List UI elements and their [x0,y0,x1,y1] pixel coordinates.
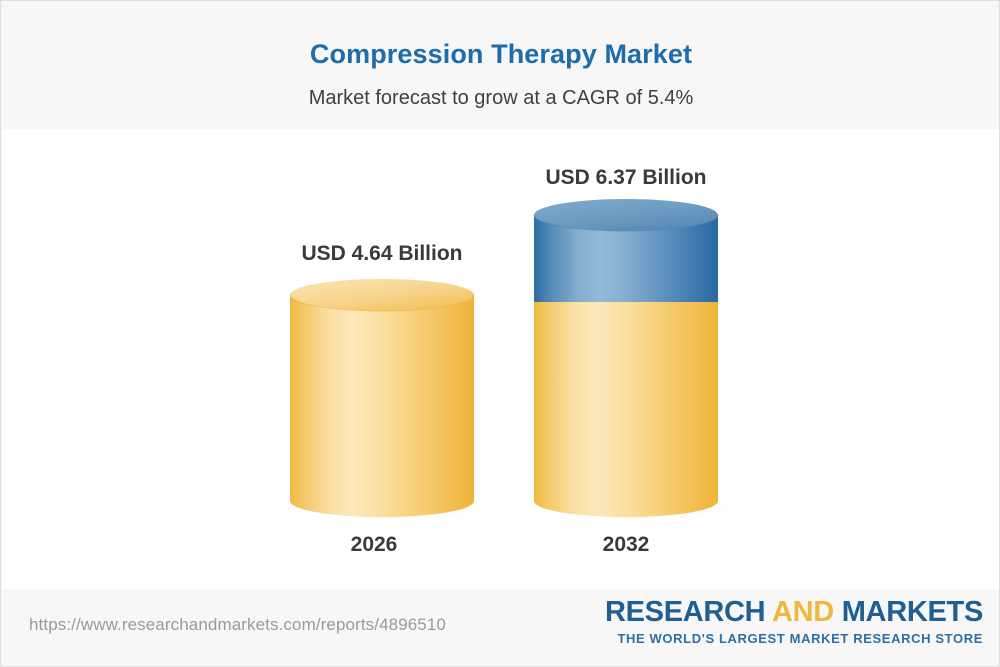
logo-wordmark: RESEARCH AND MARKETS [605,597,983,627]
bar-value-label-2026: USD 4.64 Billion [222,242,542,266]
report-url[interactable]: https://www.researchandmarkets.com/repor… [29,615,446,635]
chart-image: Compression Therapy Market Market foreca… [0,0,1000,667]
cylinder-bar-2032[interactable] [534,202,734,526]
category-label-2032: 2032 [466,533,786,557]
bar-chart-plot: USD 4.64 Billion [1,1,1000,667]
logo-word-research: RESEARCH [605,596,765,628]
bar-value-label-2032: USD 6.37 Billion [466,166,786,190]
footer: https://www.researchandmarkets.com/repor… [1,589,1000,666]
logo-tagline: THE WORLD'S LARGEST MARKET RESEARCH STOR… [605,627,983,647]
logo-word-markets: MARKETS [842,596,983,628]
cylinder-bar-2026[interactable] [290,282,490,526]
research-and-markets-logo[interactable]: RESEARCH AND MARKETS THE WORLD'S LARGEST… [605,597,983,647]
logo-word-and: AND [772,596,834,628]
